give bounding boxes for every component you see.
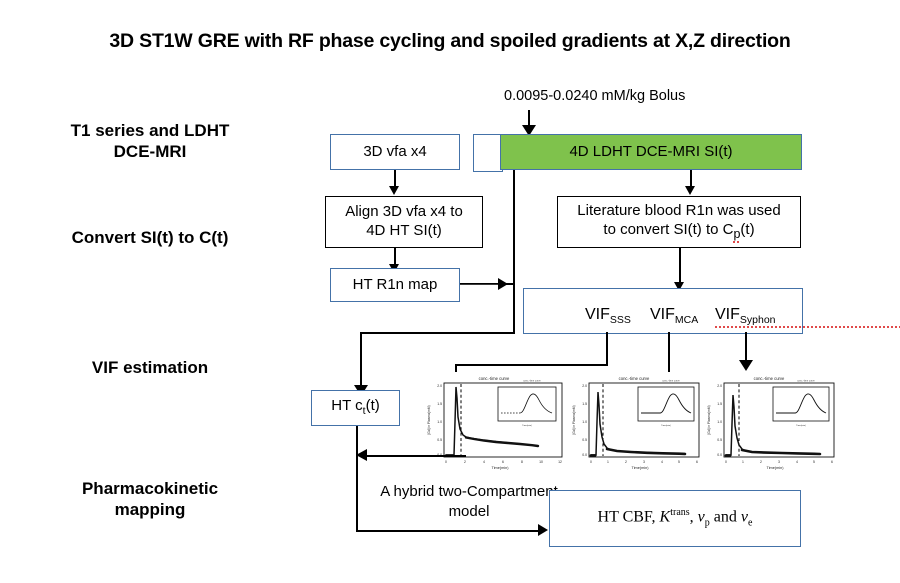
connector-bottom-to-results-arrowhead [538,524,548,536]
box-literature-line1: Literature blood R1n was used [577,202,780,219]
box-align-vfa[interactable]: Align 3D vfa x4 to 4D HT SI(t) [325,196,483,248]
thumbnail-plot-mca[interactable]: conc.-time curve conc.-time curve 2.0 1.… [565,372,703,472]
stage-label-pharmacokinetic: Pharmacokinetic mapping [0,478,300,521]
connector-mca-stem [668,332,670,374]
bolus-annotation-label: 0.0095-0.0240 mM/kg Bolus [504,88,685,104]
svg-text:1.5: 1.5 [717,402,722,406]
svg-text:1: 1 [607,460,609,464]
svg-text:2.0: 2.0 [717,384,722,388]
stage-label-acquisition: T1 series and LDHT DCE-MRI [0,120,300,163]
svg-text:4: 4 [483,460,485,464]
connector-model-to-ct-arrowhead [356,449,367,461]
svg-text:2: 2 [760,460,762,464]
svg-text:0.5: 0.5 [717,438,722,442]
connector-vif-to-ct-drop [513,283,515,333]
thumbnail-plot-syphon[interactable]: conc.-time curve conc.-time curve 2.0 1.… [700,372,838,472]
svg-text:6: 6 [502,460,504,464]
svg-text:conc.-time curve: conc.-time curve [619,376,650,381]
svg-text:1.5: 1.5 [582,402,587,406]
connector-model-to-ct-horizontal [366,455,466,457]
svg-text:[Gd] in Plasma(mM): [Gd] in Plasma(mM) [427,405,431,434]
box-ht-r1n-map[interactable]: HT R1n map [330,268,460,302]
connector-vfa-to-align-head [389,186,399,195]
svg-text:2: 2 [464,460,466,464]
svg-text:[Gd] in Plasma(mM): [Gd] in Plasma(mM) [707,405,711,434]
connector-literature-to-vif-stem [679,248,681,284]
svg-text:5: 5 [678,460,680,464]
svg-text:0.5: 0.5 [437,438,442,442]
svg-text:3: 3 [643,460,645,464]
svg-text:conc.-time curve: conc.-time curve [754,376,785,381]
prebolus-baseline-segment [473,134,503,172]
svg-text:1.5: 1.5 [437,402,442,406]
svg-text:1.0: 1.0 [437,420,442,424]
box-results[interactable]: HT CBF, Ktrans, vp and ve [549,490,801,547]
connector-sss-horizontal [455,364,608,366]
stage-label-acquisition-line2: DCE-MRI [0,141,300,162]
svg-text:1: 1 [742,460,744,464]
svg-text:2.0: 2.0 [437,384,442,388]
svg-text:Time(min): Time(min) [661,425,671,427]
vif-label-mca: VIFMCA [650,306,698,326]
vif-label-syphon: VIFSyphon [715,306,900,326]
svg-text:4: 4 [796,460,798,464]
connector-dce-to-literature-head [685,186,695,195]
vif-label-sss: VIFSSS [585,306,631,326]
svg-text:0.0: 0.0 [582,453,587,457]
stage-label-conversion-line1: Convert SI(t) to C(t) [0,227,300,248]
connector-dce-left-drop [513,170,515,284]
cp-subscript: p [733,227,740,241]
svg-text:conc.-time curve: conc.-time curve [662,380,680,383]
stage-label-acquisition-line1: T1 series and LDHT [0,120,300,141]
thumbnail-plot-mca-svg: conc.-time curve conc.-time curve 2.0 1.… [565,372,703,472]
box-ht-ct-label: HT ct(t) [331,397,380,418]
thumbnail-plot-sss[interactable]: conc.-time curve conc.-time curve 2.0 1.… [420,372,568,472]
svg-text:Time(min): Time(min) [796,425,806,427]
connector-syphon-arrowhead [739,360,753,371]
connector-r1n-to-junction [460,284,500,285]
svg-text:Time(min): Time(min) [522,425,532,427]
svg-text:5: 5 [813,460,815,464]
svg-text:6: 6 [696,460,698,464]
thumbnail-plot-sss-svg: conc.-time curve conc.-time curve 2.0 1.… [420,372,568,472]
svg-text:Time(min): Time(min) [492,466,510,470]
box-literature-blood-r1n[interactable]: Literature blood R1n was used to convert… [557,196,801,248]
box-align-line2: 4D HT SI(t) [366,222,442,239]
stage-label-conversion: Convert SI(t) to C(t) [0,227,300,248]
svg-text:1.0: 1.0 [582,420,587,424]
hybrid-model-caption: A hybrid two-Compartment model [374,482,564,521]
svg-text:Time(min): Time(min) [767,466,785,470]
svg-text:12: 12 [558,460,562,464]
box-align-line1: Align 3D vfa x4 to [345,203,463,220]
connector-ct-vertical [360,332,362,387]
connector-sss-stem [606,332,608,365]
svg-text:conc.-time curve: conc.-time curve [523,380,541,383]
connector-bottom-to-results [356,530,542,532]
svg-text:6: 6 [831,460,833,464]
stage-label-pharmacokinetic-line2: mapping [0,499,300,520]
box-results-label: HT CBF, Ktrans, vp and ve [598,507,753,530]
box-3d-vfa[interactable]: 3D vfa x4 [330,134,460,170]
connector-syphon-stem [745,332,747,362]
svg-text:10: 10 [539,460,543,464]
svg-text:0.5: 0.5 [582,438,587,442]
svg-text:4: 4 [661,460,663,464]
stage-label-pharmacokinetic-line1: Pharmacokinetic [0,478,300,499]
stage-label-vif: VIF estimation [0,357,300,378]
diagram-canvas: 3D ST1W GRE with RF phase cycling and sp… [0,0,900,583]
svg-text:8: 8 [521,460,523,464]
svg-text:2.0: 2.0 [582,384,587,388]
box-literature-line2: to convert SI(t) to Cp(t) [603,221,754,238]
svg-text:2: 2 [625,460,627,464]
svg-text:[Gd] in Plasma(mM): [Gd] in Plasma(mM) [572,405,576,434]
svg-text:0: 0 [725,460,727,464]
stage-label-vif-line1: VIF estimation [0,357,300,378]
svg-text:3: 3 [778,460,780,464]
thumbnail-plot-syphon-svg: conc.-time curve conc.-time curve 2.0 1.… [700,372,838,472]
connector-ct-down-to-bottom [356,426,358,531]
svg-text:conc.-time curve: conc.-time curve [479,376,510,381]
svg-text:conc.-time curve: conc.-time curve [797,380,815,383]
svg-text:Time(min): Time(min) [632,466,650,470]
connector-r1n-to-junction-head [498,278,508,290]
box-4d-ldht-dce-mri[interactable]: 4D LDHT DCE-MRI SI(t) [500,134,802,170]
connector-vif-to-ct-horizontal [360,332,515,334]
page-title: 3D ST1W GRE with RF phase cycling and sp… [0,30,900,53]
box-ht-ct[interactable]: HT ct(t) [311,390,400,426]
svg-text:0: 0 [445,460,447,464]
svg-text:0.0: 0.0 [717,453,722,457]
svg-text:0: 0 [590,460,592,464]
svg-text:1.0: 1.0 [717,420,722,424]
